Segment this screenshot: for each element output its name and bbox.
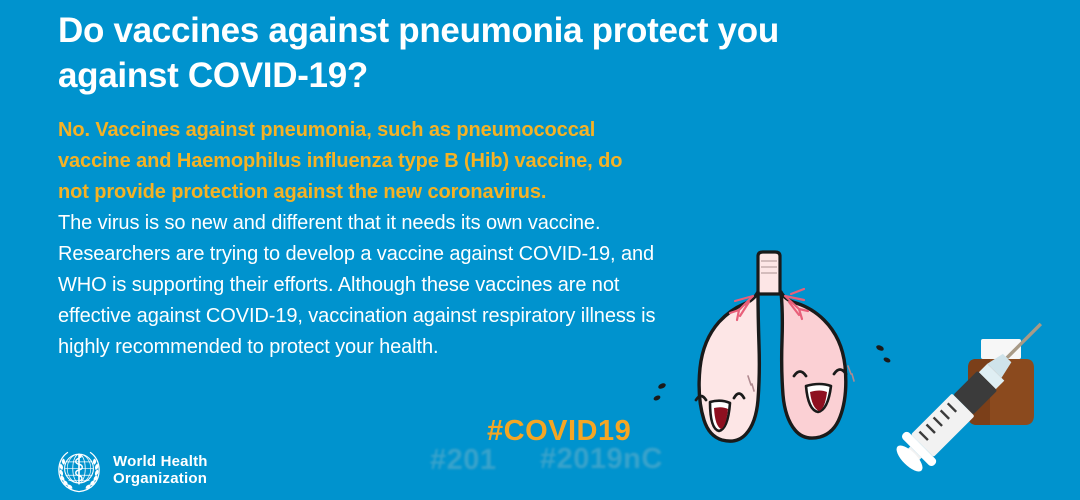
who-logo-line-1: World Health [113, 453, 208, 470]
body-paragraph: The virus is so new and different that i… [58, 208, 658, 363]
hashtag-label: #COVID19 [487, 415, 631, 448]
page-title: Do vaccines against pneumonia protect yo… [58, 8, 888, 98]
syringe-and-medicine-bottle-illustration [868, 300, 1080, 485]
smiling-lungs-illustration [648, 248, 898, 453]
who-logo-text: World Health Organization [113, 453, 208, 487]
who-logo-line-2: Organization [113, 470, 208, 487]
who-logo: World Health Organization [55, 446, 208, 494]
poster-canvas: Do vaccines against pneumonia protect yo… [0, 0, 1080, 500]
who-emblem-icon [55, 446, 103, 494]
lead-paragraph: No. Vaccines against pneumonia, such as … [58, 115, 658, 208]
ghost-watermark-one: #201 [430, 444, 497, 477]
text-column: Do vaccines against pneumonia protect yo… [58, 8, 658, 363]
